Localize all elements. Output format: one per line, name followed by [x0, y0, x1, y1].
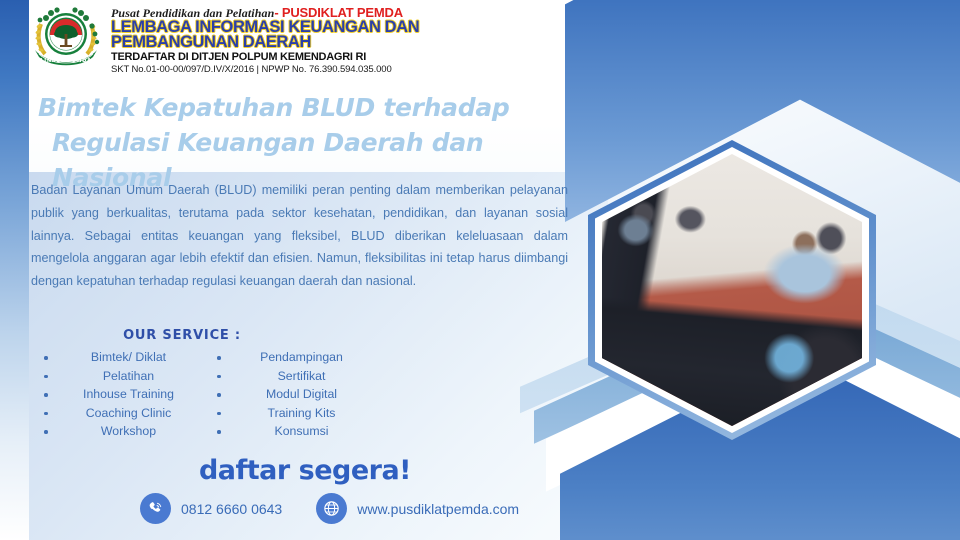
- list-item: Workshop: [32, 422, 207, 441]
- list-item: Inhouse Training: [32, 385, 207, 404]
- services-column-left: Bimtek/ Diklat Pelatihan Inhouse Trainin…: [32, 348, 207, 441]
- services-column-right: Pendampingan Sertifikat Modul Digital Tr…: [207, 348, 382, 441]
- flyer-canvas: LINKEU PEMDA Pusat Pendidikan dan Pelati…: [0, 0, 960, 540]
- description-paragraph: Badan Layanan Umum Daerah (BLUD) memilik…: [31, 179, 568, 293]
- phone-call-icon: [140, 493, 171, 524]
- list-item: Sertifikat: [207, 367, 382, 386]
- org-license-line: SKT No.01-00-00/097/D.IV/X/2016 | NPWP N…: [111, 64, 419, 76]
- list-item: Pelatihan: [32, 367, 207, 386]
- list-item: Coaching Clinic: [32, 404, 207, 423]
- left-accent-bar: [0, 0, 29, 540]
- org-name-line-2: PEMBANGUNAN DAERAH: [111, 35, 419, 50]
- linkeu-pemda-logo-icon: LINKEU PEMDA: [29, 4, 103, 70]
- title-line-1: Bimtek Kepatuhan BLUD terhadap: [38, 93, 510, 122]
- phone-number: 0812 6660 0643: [181, 501, 282, 517]
- contact-phone[interactable]: 0812 6660 0643: [140, 493, 282, 524]
- list-item: Bimtek/ Diklat: [32, 348, 207, 367]
- list-item: Pendampingan: [207, 348, 382, 367]
- services-heading: OUR SERVICE :: [32, 328, 332, 343]
- list-item: Training Kits: [207, 404, 382, 423]
- contact-bar: 0812 6660 0643 www.pusdiklatpemda.com: [140, 493, 610, 524]
- website-url: www.pusdiklatpemda.com: [357, 501, 519, 517]
- services-columns: Bimtek/ Diklat Pelatihan Inhouse Trainin…: [32, 348, 382, 441]
- brand-header: LINKEU PEMDA Pusat Pendidikan dan Pelati…: [29, 4, 449, 76]
- svg-text:LINKEU PEMDA: LINKEU PEMDA: [40, 58, 91, 64]
- hexagon-photo-frame: [588, 140, 876, 440]
- contact-website[interactable]: www.pusdiklatpemda.com: [316, 493, 519, 524]
- organization-text-block: Pusat Pendidikan dan Pelatihan- PUSDIKLA…: [111, 4, 419, 76]
- org-registration-line: TERDAFTAR DI DITJEN POLPUM KEMENDAGRI RI: [111, 51, 419, 64]
- list-item: Modul Digital: [207, 385, 382, 404]
- cta-headline: daftar segera!: [140, 455, 470, 486]
- list-item: Konsumsi: [207, 422, 382, 441]
- globe-icon: [316, 493, 347, 524]
